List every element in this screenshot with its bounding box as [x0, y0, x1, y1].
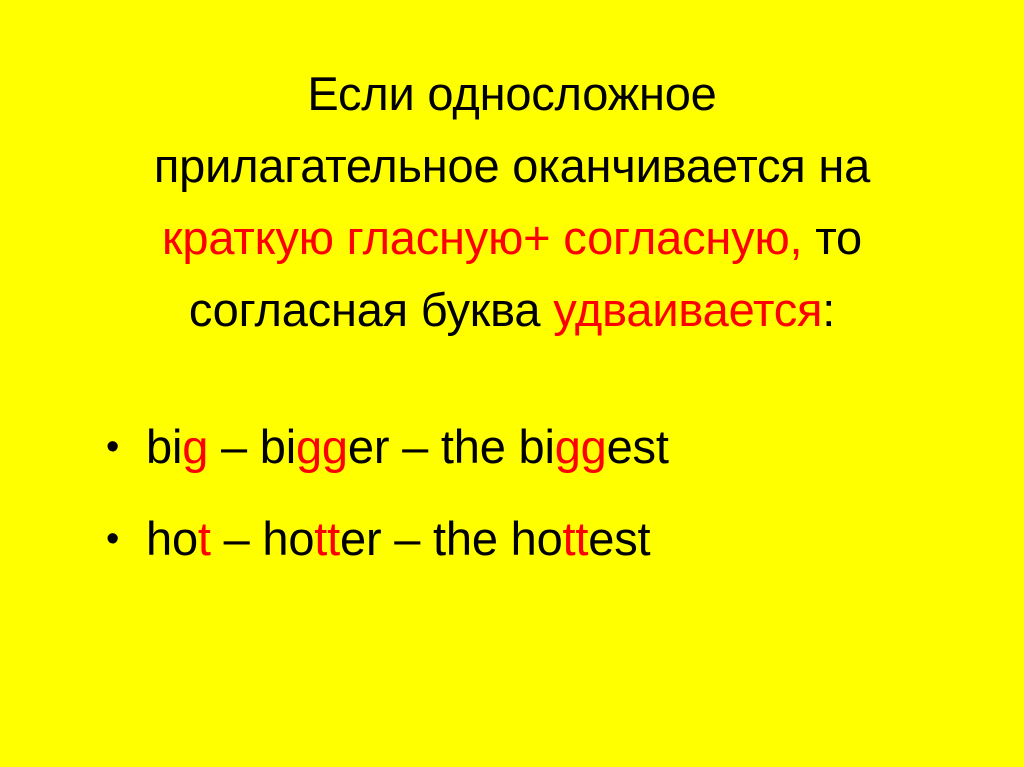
text-run: удваивается [553, 283, 822, 336]
text-run: tt [314, 512, 340, 565]
slide-canvas: Если односложное прилагательное оканчива… [0, 0, 1024, 767]
title-line-1: Если односложное [0, 58, 1024, 130]
text-run: er – the bi [348, 420, 555, 473]
examples-list: • big – bigger – the biggest • hot – hot… [100, 418, 980, 602]
text-run: tt [563, 512, 589, 565]
text-run: – bi [208, 420, 296, 473]
list-item: • hot – hotter – the hottest [100, 510, 980, 568]
bullet-icon: • [106, 418, 130, 476]
text-run: прилагательное оканчивается на [154, 139, 870, 192]
text-run: согласная буква [189, 283, 553, 336]
title-line-2: прилагательное оканчивается на [0, 130, 1024, 202]
title-line-3: краткую гласную+ согласную, то [0, 202, 1024, 274]
text-run: g [182, 420, 208, 473]
text-run: t [198, 512, 211, 565]
text-run: bi [146, 420, 182, 473]
text-run: Если односложное [307, 67, 716, 120]
text-run: краткую гласную+ согласную, [162, 211, 802, 264]
rule-title-block: Если односложное прилагательное оканчива… [0, 58, 1024, 346]
text-run: ho [146, 512, 198, 565]
text-run: est [607, 420, 669, 473]
text-run: gg [296, 420, 348, 473]
title-line-4: согласная буква удваивается: [0, 274, 1024, 346]
example-big-text: big – bigger – the biggest [146, 420, 669, 473]
list-item: • big – bigger – the biggest [100, 418, 980, 476]
bullet-icon: • [106, 510, 130, 568]
text-run: – ho [211, 512, 315, 565]
text-run: gg [555, 420, 607, 473]
text-run: er – the ho [340, 512, 563, 565]
text-run: то [802, 211, 862, 264]
text-run: est [588, 512, 650, 565]
text-run: : [822, 283, 835, 336]
example-hot-text: hot – hotter – the hottest [146, 512, 650, 565]
